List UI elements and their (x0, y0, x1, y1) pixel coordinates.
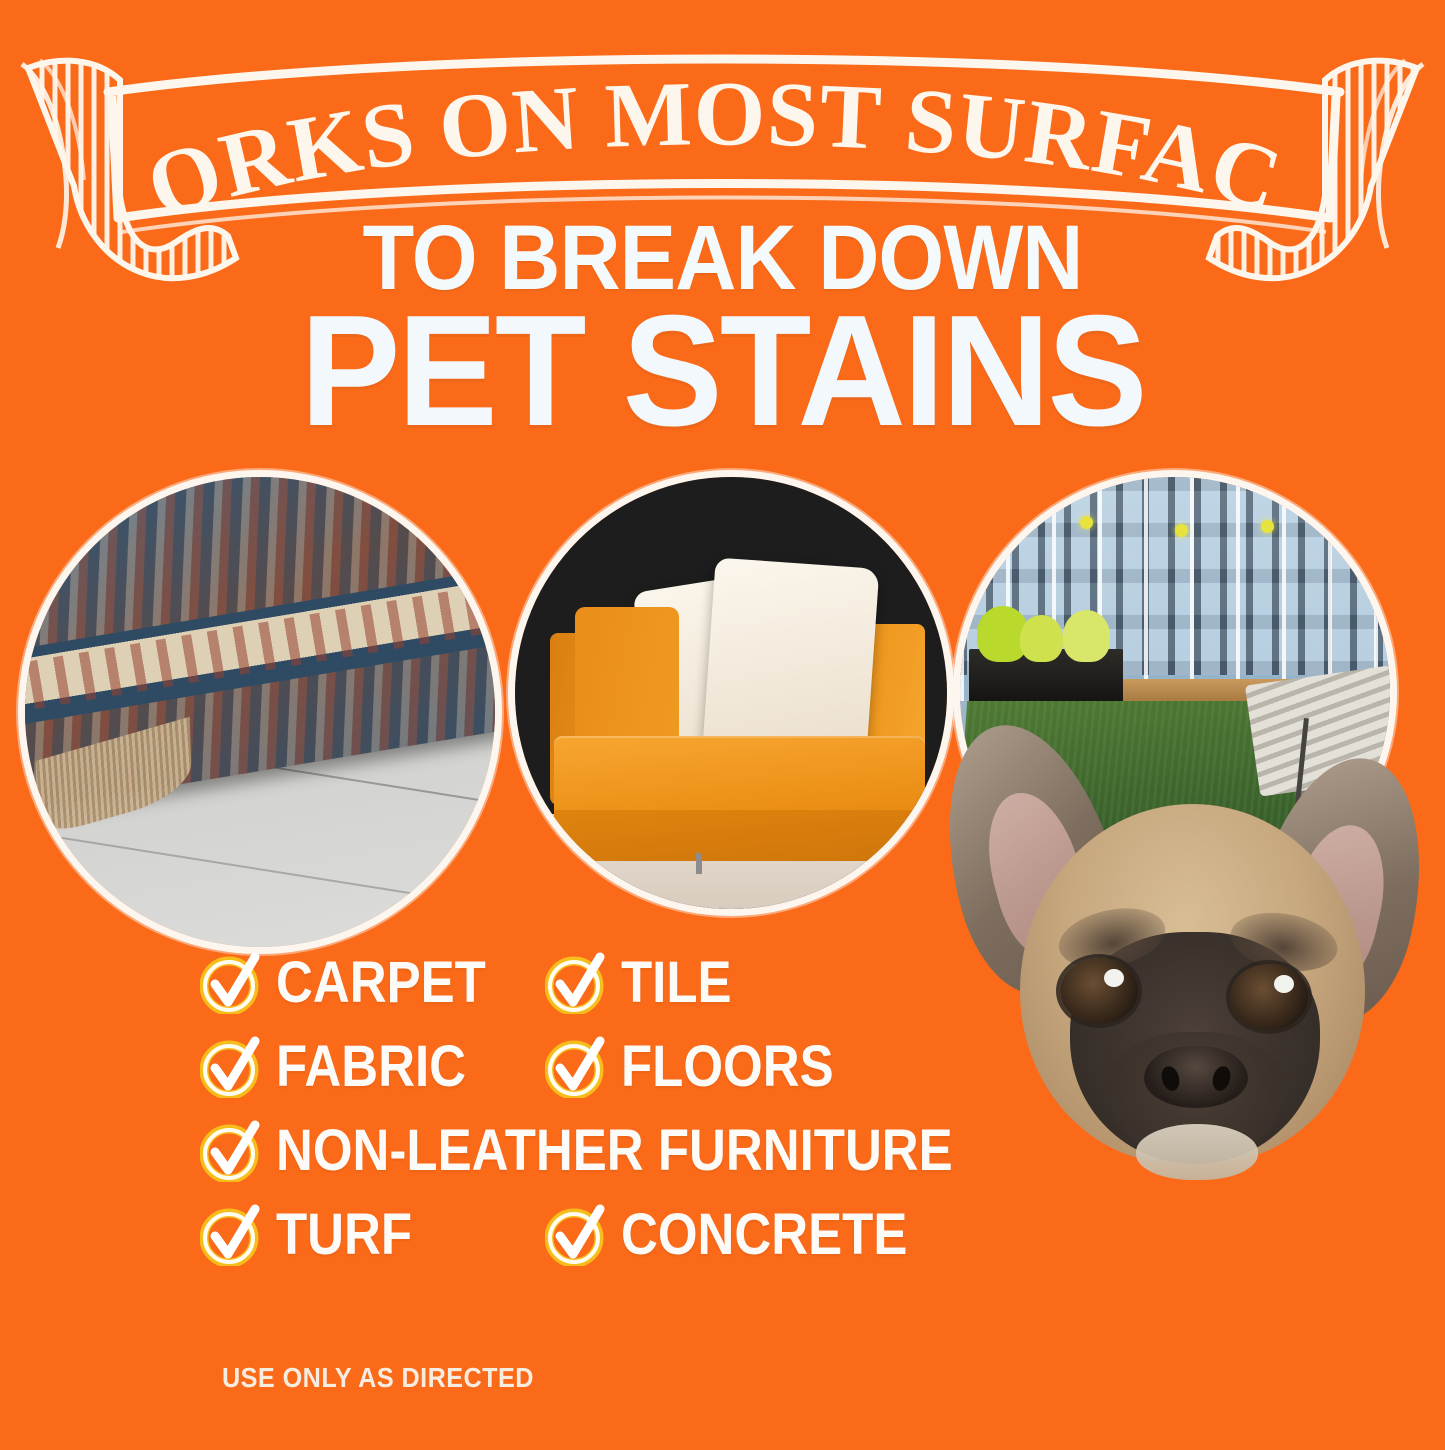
orange-sofa-photo (515, 477, 947, 909)
sofa-seat-cushion-graphic (554, 736, 926, 818)
rug-on-tile-photo (25, 477, 495, 947)
checkmark-icon (545, 1036, 607, 1098)
checklist-item-non-leather-furniture: NON-LEATHER FURNITURE (200, 1120, 1045, 1182)
checklist-row: FABRIC FLOORS (200, 1036, 1050, 1098)
checkmark-icon (200, 952, 262, 1014)
checklist-label: CONCRETE (621, 1206, 907, 1264)
checkmark-icon (200, 1204, 262, 1266)
checkmark-icon (545, 952, 607, 1014)
plant-3 (1063, 610, 1110, 662)
checklist-row: CARPET TILE (200, 952, 1050, 1014)
dog-right-nostril (1210, 1064, 1233, 1093)
checkmark-icon (200, 1036, 262, 1098)
checklist-label: TILE (621, 954, 732, 1012)
checkmark-icon (200, 1120, 262, 1182)
checklist-row: NON-LEATHER FURNITURE (200, 1120, 1050, 1182)
string-light-3 (1261, 520, 1274, 533)
checklist-label: NON-LEATHER FURNITURE (276, 1122, 953, 1180)
checklist-item-turf: TURF (200, 1204, 545, 1266)
checklist-item-fabric: FABRIC (200, 1036, 545, 1098)
plant-2 (1020, 615, 1063, 662)
dog-right-eye-highlight (1274, 975, 1294, 993)
sofa-leg-mid (696, 853, 702, 875)
checklist-label: CARPET (276, 954, 486, 1012)
checklist-item-concrete: CONCRETE (545, 1204, 946, 1266)
dog-right-eye (1230, 964, 1308, 1030)
surface-checklist: CARPET TILE (200, 952, 1050, 1288)
sofa-base-graphic (554, 810, 926, 862)
checkmark-icon (545, 1204, 607, 1266)
headline-line-2: PET STAINS (36, 292, 1409, 450)
advertisement-canvas: WORKS ON MOST SURFACES TO BREAK DOWN PET… (0, 0, 1445, 1445)
dog-left-nostril (1159, 1064, 1182, 1093)
checklist-label: FLOORS (621, 1038, 834, 1096)
sofa-leg-left (575, 853, 581, 875)
sofa-photo-content (515, 477, 947, 909)
checklist-row: TURF CONCRETE (200, 1204, 1050, 1266)
checklist-label: FABRIC (276, 1038, 466, 1096)
dog-chin (1136, 1124, 1258, 1180)
checklist-item-floors: FLOORS (545, 1036, 863, 1098)
dog-nose (1144, 1046, 1248, 1108)
dog-left-eye (1060, 958, 1138, 1024)
cream-pillow-front (703, 558, 880, 759)
dog-left-eye-highlight (1104, 969, 1124, 987)
disclaimer-text: USE ONLY AS DIRECTED (222, 1362, 534, 1394)
rug-photo-content (25, 477, 495, 947)
checklist-label: TURF (276, 1206, 412, 1264)
checklist-item-carpet: CARPET (200, 952, 545, 1014)
checklist-item-tile: TILE (545, 952, 747, 1014)
